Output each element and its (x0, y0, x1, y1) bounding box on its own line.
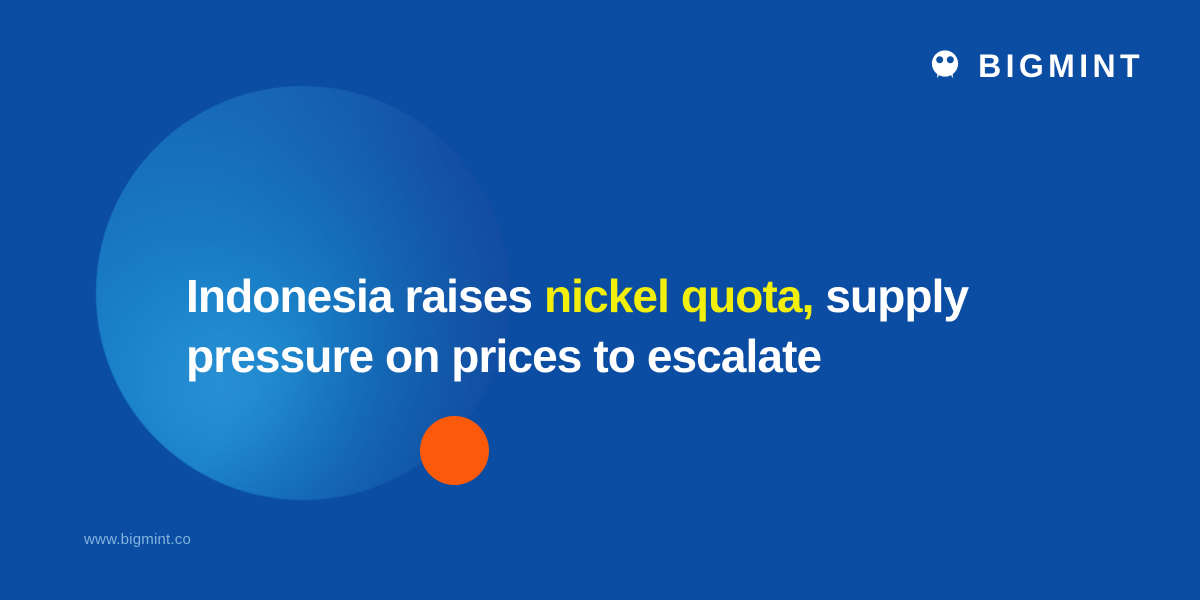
site-url[interactable]: www.bigmint.co (84, 531, 191, 548)
brand-wordmark: BIGMINT (978, 50, 1144, 82)
headline: Indonesia raises nickel quota, supply pr… (186, 266, 1156, 386)
headline-line-two: on prices to escalate (385, 330, 821, 382)
headline-segment-pre: Indonesia raises (186, 270, 544, 322)
headline-highlight: nickel quota, (544, 270, 813, 322)
bigmint-logo-mark-icon (925, 46, 965, 86)
orange-accent-circle (420, 416, 489, 485)
brand-logo[interactable]: BIGMINT (925, 46, 1144, 86)
news-banner: BIGMINT Indonesia raises nickel quota, s… (0, 0, 1200, 600)
